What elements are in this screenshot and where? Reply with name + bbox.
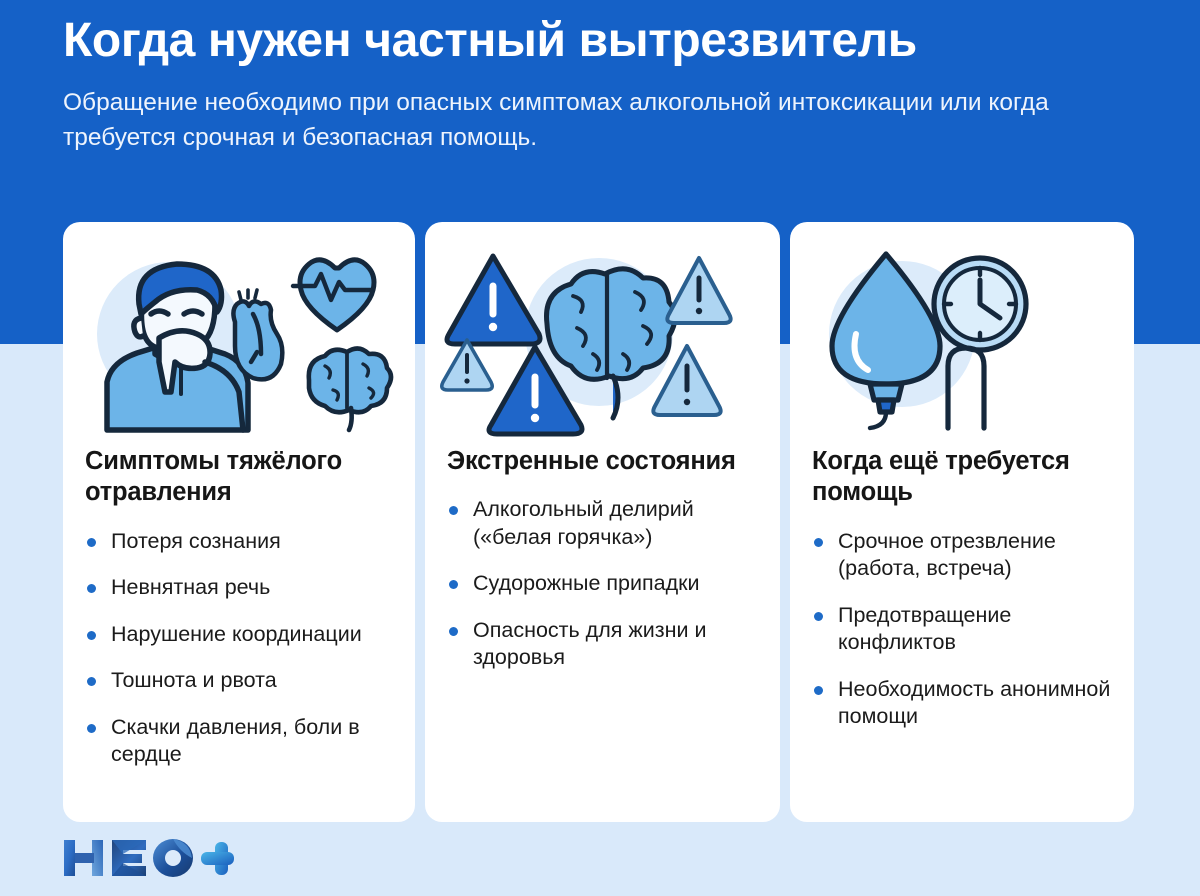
exclamation-dot <box>464 378 469 383</box>
illustration-when-else-help-needed <box>812 242 1112 432</box>
exclamation-dot <box>684 399 690 405</box>
illustration-severe-poisoning <box>85 242 393 432</box>
warning-triangle-icon <box>447 256 540 344</box>
list-item: Потеря сознания <box>85 528 393 556</box>
warning-triangle-icon <box>667 258 730 323</box>
header: Когда нужен частный вытрезвитель Обращен… <box>63 14 1153 155</box>
brain-stem <box>613 376 618 418</box>
illustration-svg <box>812 242 1112 432</box>
list-item: Нарушение координации <box>85 621 393 649</box>
pulse-heart-body <box>300 260 374 330</box>
neo-plus-logo-icon <box>62 836 237 880</box>
list-item: Срочное отрезвление (работа, встреча) <box>812 528 1112 583</box>
heart-pulse-icon <box>293 260 374 330</box>
heart-body <box>233 301 282 379</box>
eye-left <box>151 311 168 314</box>
eye-right <box>184 311 202 314</box>
illustration-svg <box>447 242 762 432</box>
page-title: Когда нужен частный вытрезвитель <box>63 14 1153 68</box>
list-item: Тошнота и рвота <box>85 667 393 695</box>
brain-body <box>547 269 676 379</box>
card-severe-poisoning[interactable]: Симптомы тяжёлого отравления Потеря созн… <box>63 222 415 822</box>
page-subtitle: Обращение необходимо при опасных симптом… <box>63 86 1073 156</box>
clock-icon <box>934 258 1026 350</box>
card-title: Экстренные состояния <box>447 446 758 477</box>
heart-arteries <box>239 290 257 300</box>
list-item: Судорожные припадки <box>447 570 758 598</box>
brand-logo[interactable] <box>62 836 237 880</box>
exclamation-dot <box>531 414 539 422</box>
list-item: Алкогольный делирий («белая горячка») <box>447 496 758 551</box>
list-item: Предотвращение конфликтов <box>812 602 1112 657</box>
card-points-list: Алкогольный делирий («белая горячка») Су… <box>447 496 758 691</box>
infographic-root: Когда нужен частный вытрезвитель Обращен… <box>0 0 1200 896</box>
brain-body <box>309 348 391 412</box>
card-points-list: Потеря сознания Невнятная речь Нарушение… <box>85 528 393 788</box>
exclamation-dot <box>696 308 702 314</box>
warning-triangle-icon <box>442 340 492 390</box>
card-emergency-states[interactable]: Экстренные состояния Алкогольный делирий… <box>425 222 780 822</box>
logo-letter-E <box>112 840 146 876</box>
card-title: Когда ещё требуется помощь <box>812 446 1112 509</box>
brain-icon <box>309 348 391 430</box>
card-when-else-help-needed[interactable]: Когда ещё требуется помощь Срочное отрез… <box>790 222 1134 822</box>
card-points-list: Срочное отрезвление (работа, встреча) Пр… <box>812 528 1112 750</box>
illustration-svg <box>85 242 395 432</box>
exclamation-dot <box>489 323 497 331</box>
list-item: Опасность для жизни и здоровья <box>447 617 758 672</box>
cards-row: Симптомы тяжёлого отравления Потеря созн… <box>63 222 1138 822</box>
brain-stem <box>349 408 352 430</box>
card-title: Симптомы тяжёлого отравления <box>85 446 393 509</box>
list-item: Невнятная речь <box>85 574 393 602</box>
list-item: Необходимость анонимной помощи <box>812 676 1112 731</box>
illustration-emergency-states <box>447 242 758 432</box>
anatomical-heart-icon <box>233 290 282 379</box>
logo-letter-N <box>64 840 103 876</box>
logo-letter-O <box>153 839 193 877</box>
list-item: Скачки давления, боли в сердце <box>85 714 393 769</box>
logo-plus-icon <box>201 842 234 875</box>
